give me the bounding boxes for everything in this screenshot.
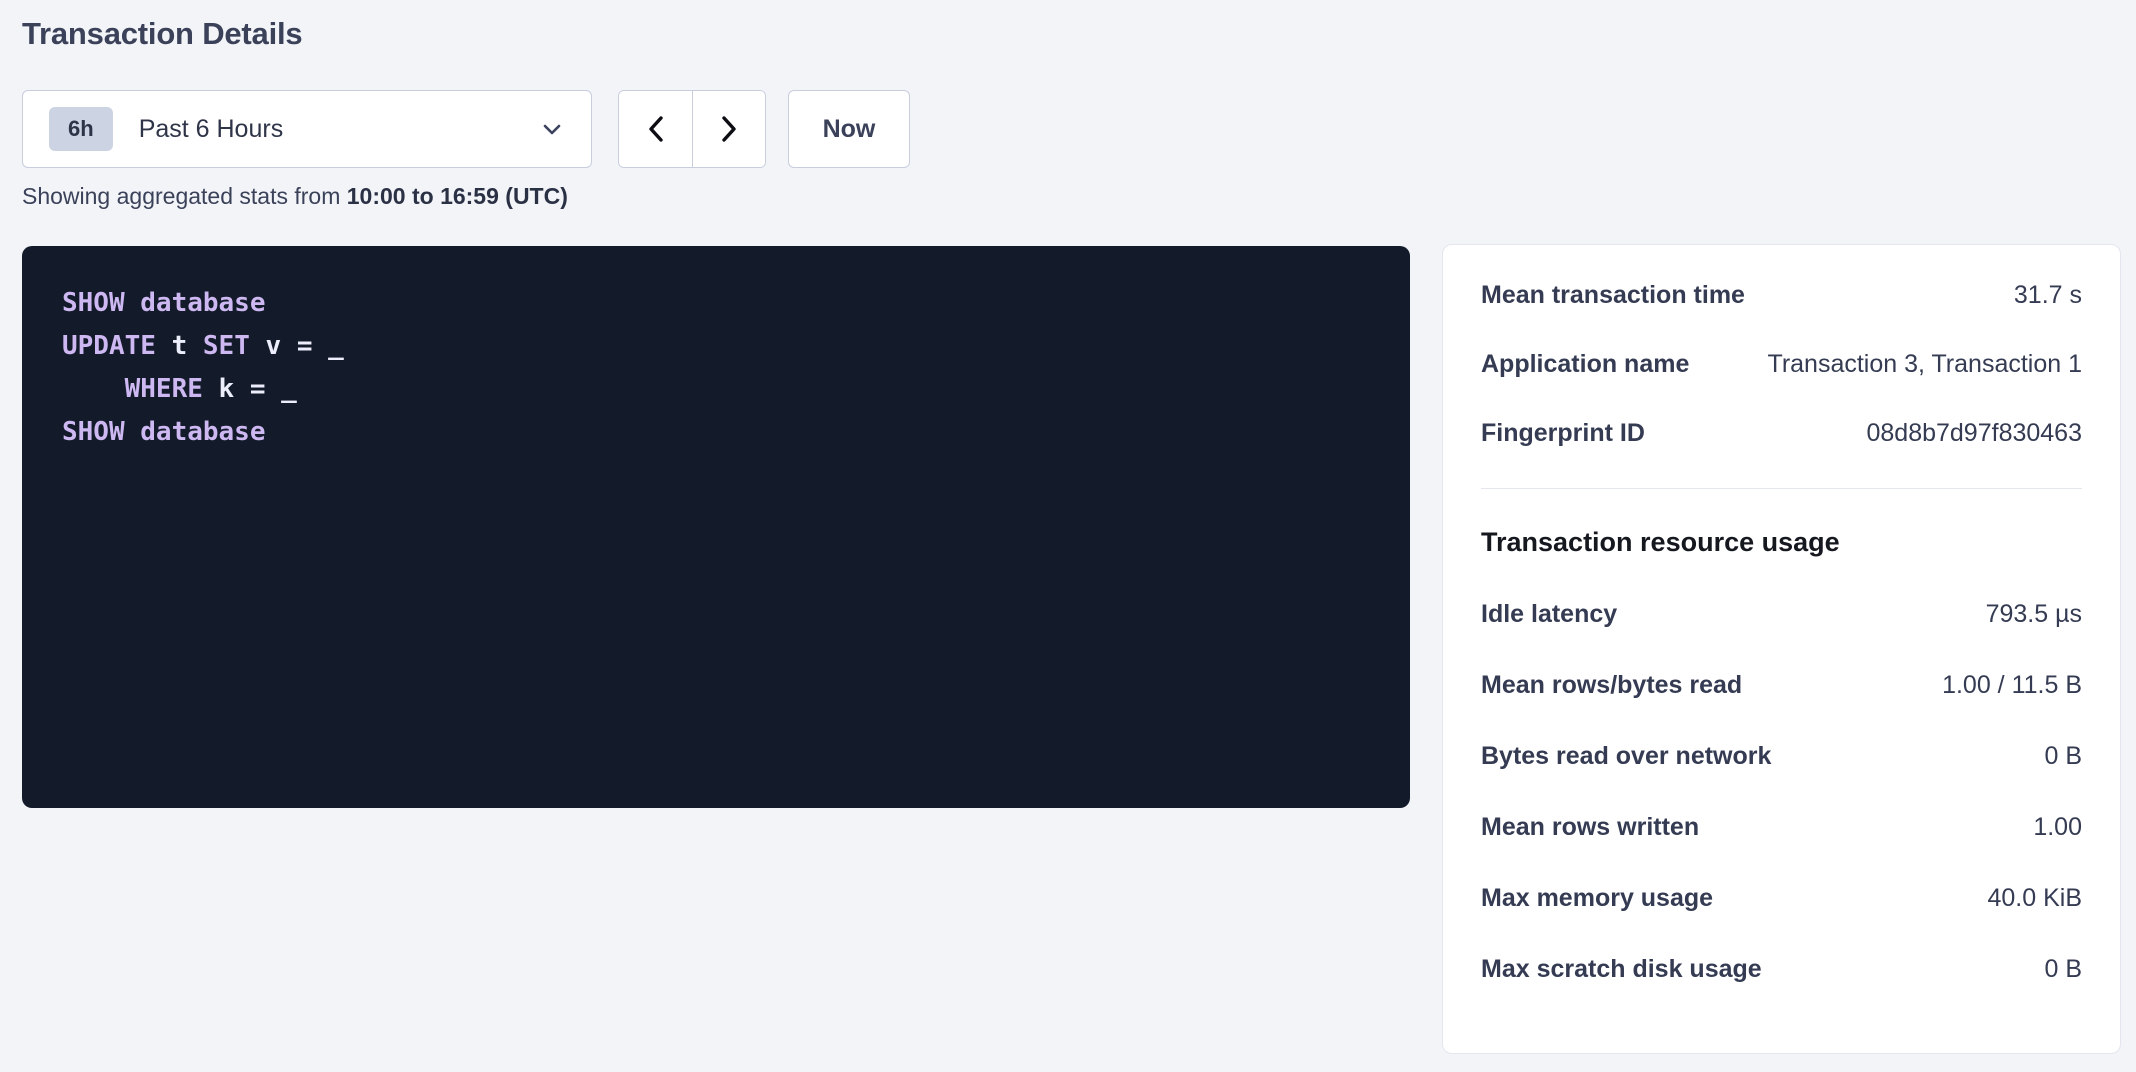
- time-range-label: Past 6 Hours: [139, 115, 541, 144]
- page-title: Transaction Details: [22, 16, 302, 52]
- sql-keyword-token: WHERE: [62, 374, 219, 404]
- stat-value: 08d8b7d97f830463: [1866, 419, 2082, 448]
- sql-keyword-token: UPDATE: [62, 331, 172, 361]
- stat-label: Application name: [1481, 350, 1689, 379]
- stat-row: Mean transaction time31.7 s: [1481, 281, 2082, 310]
- resource-usage-heading: Transaction resource usage: [1481, 527, 2082, 558]
- time-range-badge: 6h: [49, 107, 113, 151]
- chevron-down-icon: [541, 118, 563, 140]
- previous-range-button[interactable]: [619, 91, 692, 167]
- sql-keyword-token: SHOW database: [62, 417, 266, 447]
- transaction-details-page: Transaction Details 6h Past 6 Hours: [0, 0, 2136, 1072]
- stat-value: 1.00: [2033, 813, 2082, 842]
- stat-row: Mean rows/bytes read1.00 / 11.5 B: [1481, 671, 2082, 700]
- stat-row: Max scratch disk usage0 B: [1481, 955, 2082, 984]
- transaction-stats-card: Mean transaction time31.7 sApplication n…: [1442, 244, 2121, 1054]
- stat-row: Idle latency793.5 µs: [1481, 600, 2082, 629]
- sql-plain-token: t: [172, 331, 203, 361]
- stat-value: 0 B: [2044, 955, 2082, 984]
- aggregation-range-text: Showing aggregated stats from 10:00 to 1…: [22, 183, 568, 210]
- aggregation-range-prefix: Showing aggregated stats from: [22, 183, 347, 209]
- stat-value: 1.00 / 11.5 B: [1942, 671, 2082, 700]
- stat-row: Mean rows written1.00: [1481, 813, 2082, 842]
- sql-keyword-token: SHOW database: [62, 288, 266, 318]
- card-divider: [1481, 488, 2082, 489]
- stat-value: Transaction 3, Transaction 1: [1767, 350, 2082, 379]
- code-line: SHOW database: [62, 411, 1370, 454]
- code-body: SHOW databaseUPDATE t SET v = _ WHERE k …: [62, 282, 1370, 454]
- sql-plain-token: v = _: [266, 331, 344, 361]
- stat-row: Max memory usage40.0 KiB: [1481, 884, 2082, 913]
- stat-label: Mean rows written: [1481, 813, 1699, 842]
- sql-keyword-token: SET: [203, 331, 266, 361]
- code-line: SHOW database: [62, 282, 1370, 325]
- stat-value: 31.7 s: [2014, 281, 2082, 310]
- time-range-toolbar: 6h Past 6 Hours: [22, 90, 910, 168]
- sql-plain-token: k = _: [219, 374, 297, 404]
- time-range-select[interactable]: 6h Past 6 Hours: [22, 90, 592, 168]
- stat-row: Fingerprint ID08d8b7d97f830463: [1481, 419, 2082, 448]
- next-range-button[interactable]: [692, 91, 765, 167]
- stat-label: Idle latency: [1481, 600, 1617, 629]
- transaction-statements-code-block[interactable]: SHOW databaseUPDATE t SET v = _ WHERE k …: [22, 246, 1410, 808]
- stat-label: Max scratch disk usage: [1481, 955, 1762, 984]
- now-button[interactable]: Now: [788, 90, 910, 168]
- stat-value: 40.0 KiB: [1987, 884, 2082, 913]
- stat-label: Max memory usage: [1481, 884, 1713, 913]
- time-nav-group: [618, 90, 766, 168]
- chevron-right-icon: [715, 113, 743, 145]
- stat-value: 0 B: [2044, 742, 2082, 771]
- stat-label: Bytes read over network: [1481, 742, 1771, 771]
- stat-label: Mean rows/bytes read: [1481, 671, 1742, 700]
- code-line: WHERE k = _: [62, 368, 1370, 411]
- resource-usage-list: Idle latency793.5 µsMean rows/bytes read…: [1481, 600, 2082, 984]
- stat-label: Mean transaction time: [1481, 281, 1745, 310]
- stat-row: Application nameTransaction 3, Transacti…: [1481, 350, 2082, 379]
- stat-row: Bytes read over network0 B: [1481, 742, 2082, 771]
- stat-label: Fingerprint ID: [1481, 419, 1645, 448]
- code-line: UPDATE t SET v = _: [62, 325, 1370, 368]
- chevron-left-icon: [642, 113, 670, 145]
- summary-stats-list: Mean transaction time31.7 sApplication n…: [1481, 281, 2082, 448]
- stat-value: 793.5 µs: [1986, 600, 2082, 629]
- aggregation-range-value: 10:00 to 16:59 (UTC): [347, 183, 568, 209]
